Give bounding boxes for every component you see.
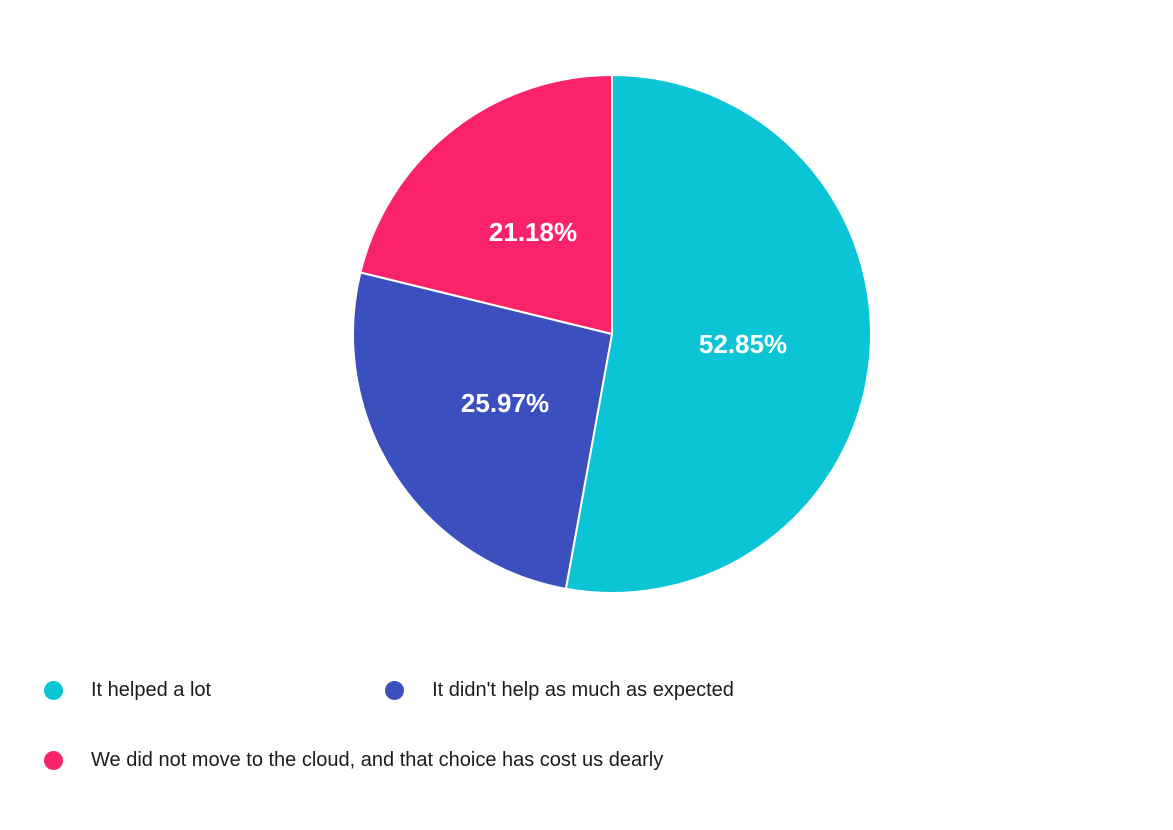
legend-item-label: We did not move to the cloud, and that c… bbox=[91, 750, 663, 770]
legend-swatch-icon bbox=[44, 681, 63, 700]
pie-svg: 52.85%25.97%21.18% bbox=[353, 75, 871, 593]
legend-item-we-did-not-move-to-the-cloud[interactable]: We did not move to the cloud, and that c… bbox=[44, 750, 663, 770]
legend-item-label: It didn't help as much as expected bbox=[432, 680, 734, 700]
pie-slice-group bbox=[353, 75, 871, 593]
legend-swatch-icon bbox=[44, 751, 63, 770]
pie-slice-value-label: 21.18% bbox=[489, 217, 577, 247]
legend-item-it-didnt-help-as-much-as-expected[interactable]: It didn't help as much as expected bbox=[385, 680, 734, 700]
legend-row: We did not move to the cloud, and that c… bbox=[40, 735, 1140, 785]
pie-chart-graphic: 52.85%25.97%21.18% bbox=[353, 75, 871, 593]
pie-slice-value-label: 52.85% bbox=[699, 329, 787, 359]
pie-chart-figure: 52.85%25.97%21.18% It helped a lot It di… bbox=[0, 0, 1173, 830]
pie-slice-value-label: 25.97% bbox=[461, 388, 549, 418]
chart-legend: It helped a lot It didn't help as much a… bbox=[40, 665, 1140, 785]
legend-item-label: It helped a lot bbox=[91, 680, 211, 700]
legend-item-it-helped-a-lot[interactable]: It helped a lot bbox=[44, 680, 211, 700]
legend-row: It helped a lot It didn't help as much a… bbox=[40, 665, 1140, 715]
legend-swatch-icon bbox=[385, 681, 404, 700]
